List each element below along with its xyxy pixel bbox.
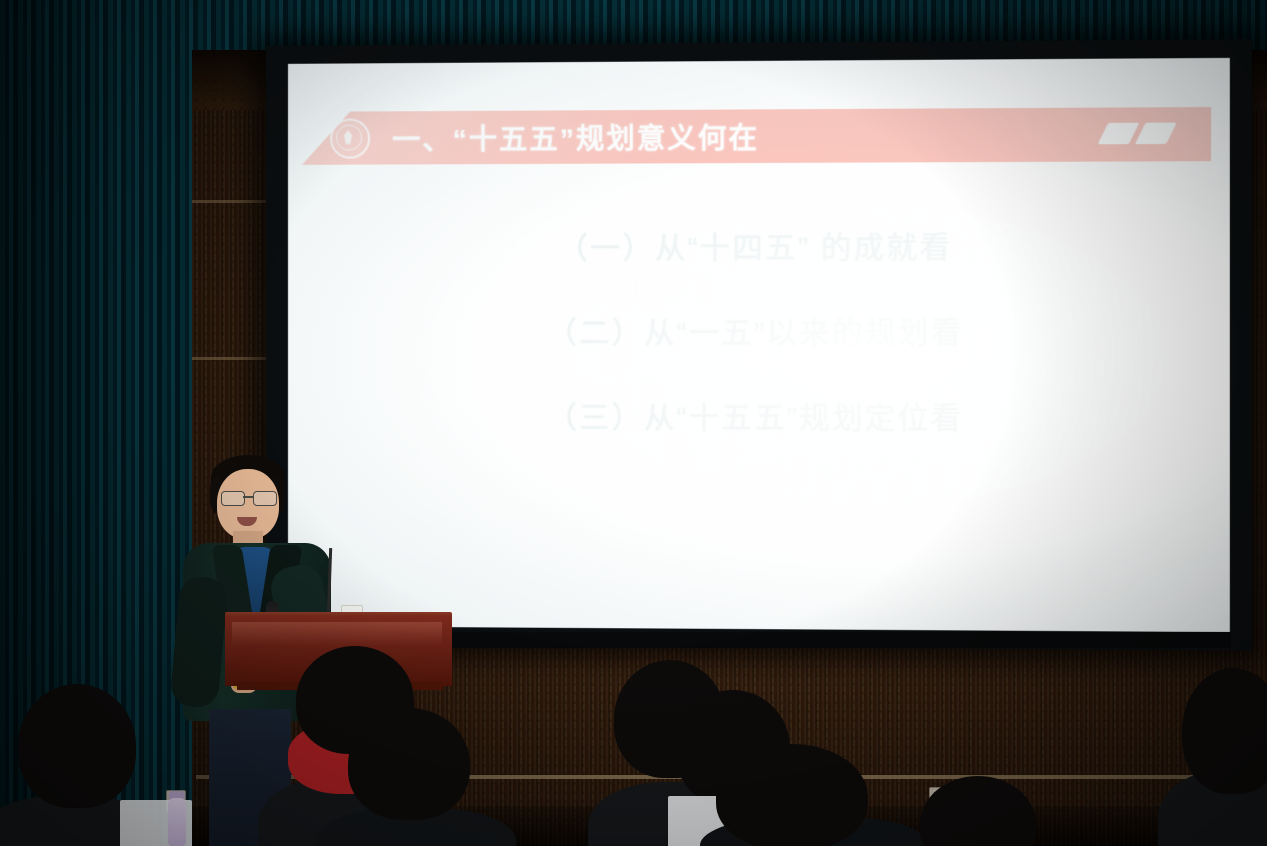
slide-bullet-3: （三）从“十五五”规划定位看 [288,392,1230,438]
glasses-lens-left [221,491,245,506]
presentation-slide: 一、“十五五”规划意义何在 （一）从“十四五” 的成就看 （二）从“一五”以来的… [288,58,1230,632]
audience-head-9 [1182,668,1267,794]
projection-screen-frame: 一、“十五五”规划意义何在 （一）从“十四五” 的成就看 （二）从“一五”以来的… [266,39,1252,650]
audience-rows [0,660,1267,846]
glasses-icon [221,491,277,504]
slide-body: （一）从“十四五” 的成就看 （二）从“一五”以来的规划看 （三）从“十五五”规… [288,221,1230,438]
university-seal-icon [330,118,370,158]
projection-screen-surface: 一、“十五五”规划意义何在 （一）从“十四五” 的成就看 （二）从“一五”以来的… [288,58,1230,632]
slide-title-text: 一、“十五五”规划意义何在 [392,116,759,158]
glasses-bridge [243,496,253,498]
slash-shape-2 [1135,123,1177,145]
purple-water-bottle [168,798,186,846]
glasses-lens-right [253,491,277,506]
audience-head-8 [920,776,1036,846]
audience-head-7 [716,744,868,846]
lecture-hall-photo: 一、“十五五”规划意义何在 （一）从“十四五” 的成就看 （二）从“一五”以来的… [0,0,1267,846]
slide-title-banner: 一、“十五五”规划意义何在 [302,107,1211,165]
slide-bullet-1: （一）从“十四五” 的成就看 [288,221,1230,268]
slide-bullet-2: （二）从“一五”以来的规划看 [288,307,1230,352]
lectern-highlight [232,622,442,646]
parallelogram-slashes-icon [1103,116,1184,151]
audience-head-4 [348,708,470,820]
slash-shape-1 [1098,123,1140,145]
audience-head-1 [18,684,136,808]
